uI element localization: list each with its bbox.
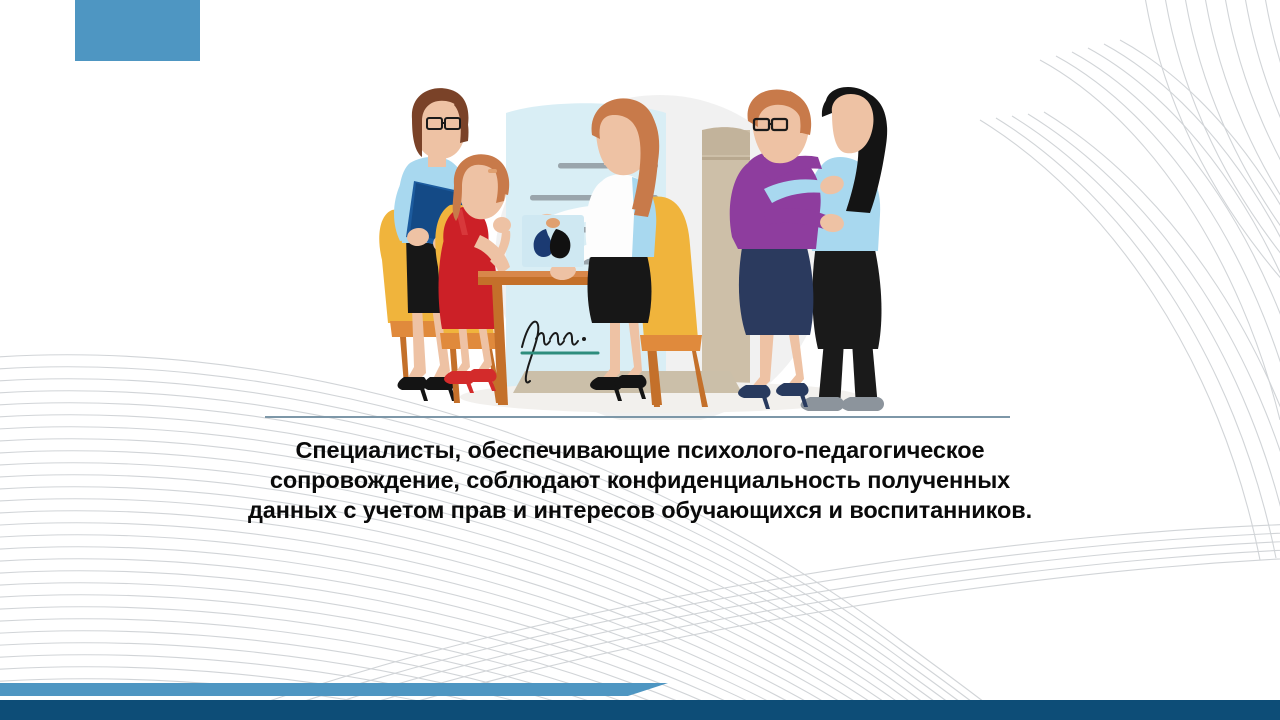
caption-line-3: данных с учетом прав и интересов обучающ… [200, 495, 1080, 525]
slide-canvas: Специалисты, обеспечивающие психолого-пе… [0, 0, 1280, 720]
caption-line-1: Специалисты, обеспечивающие психолого-пе… [200, 435, 1080, 465]
caption-text: Специалисты, обеспечивающие психолого-пе… [200, 435, 1080, 525]
caption-divider [265, 416, 1010, 418]
top-left-accent-rectangle [75, 0, 200, 61]
bottom-light-blue-band [0, 683, 668, 696]
bottom-navy-band [0, 700, 1280, 720]
psychological-counseling-illustration [370, 85, 930, 420]
caption-line-2: сопровождение, соблюдают конфиденциально… [200, 465, 1080, 495]
